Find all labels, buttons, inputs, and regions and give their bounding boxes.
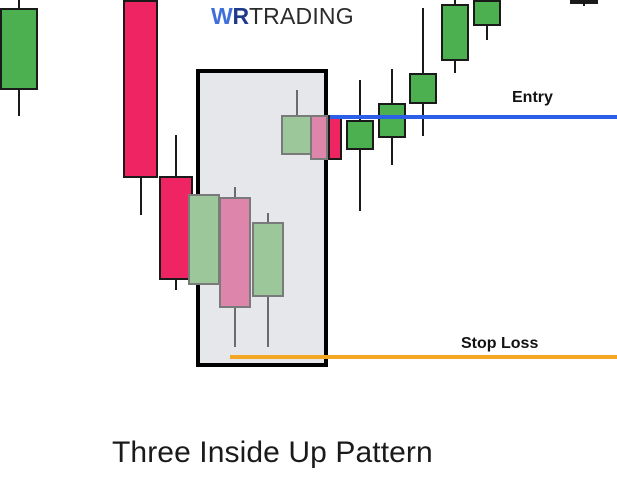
candle-body: [409, 73, 437, 104]
candle-8-bear: [310, 0, 328, 490]
candle-body: [378, 103, 406, 138]
pattern-title: Three Inside Up Pattern: [112, 436, 433, 470]
candle-body: [123, 0, 158, 178]
candle-1-bull: [0, 0, 38, 490]
candle-5-bear: [219, 0, 251, 490]
candle-body: [346, 120, 374, 150]
stop-loss-level-line: [230, 355, 617, 359]
candle-body: [188, 194, 220, 285]
candle-13-bull: [441, 0, 469, 490]
candle-body: [281, 115, 313, 155]
stop-loss-level-label: Stop Loss: [461, 335, 538, 353]
logo-w: W: [211, 3, 233, 29]
candle-body: [0, 8, 38, 90]
candle-9-bear: [328, 0, 342, 490]
candle-body: [570, 0, 598, 4]
candle-6-bull: [252, 0, 284, 490]
candle-10-bull: [346, 0, 374, 490]
logo-r: R: [233, 3, 249, 29]
logo-wordmark: TRADING: [249, 3, 354, 29]
candle-15-bull: [570, 0, 598, 490]
candle-body: [219, 197, 251, 308]
candle-2-bear: [123, 0, 158, 490]
candle-body: [473, 0, 501, 26]
candle-7-bull: [281, 0, 313, 490]
brand-logo: WRTRADING: [211, 3, 354, 29]
candle-body: [328, 115, 342, 160]
candle-14-bull: [473, 0, 501, 490]
candle-body: [252, 222, 284, 297]
candle-11-bull: [378, 0, 406, 490]
entry-level-line: [330, 115, 617, 119]
entry-level-label: Entry: [512, 89, 553, 107]
candle-12-bull: [409, 0, 437, 490]
candle-4-bull: [188, 0, 220, 490]
candle-body: [310, 115, 328, 160]
candle-body: [441, 4, 469, 61]
chart-canvas: Entry Stop Loss WRTRADING Three Inside U…: [0, 0, 617, 490]
